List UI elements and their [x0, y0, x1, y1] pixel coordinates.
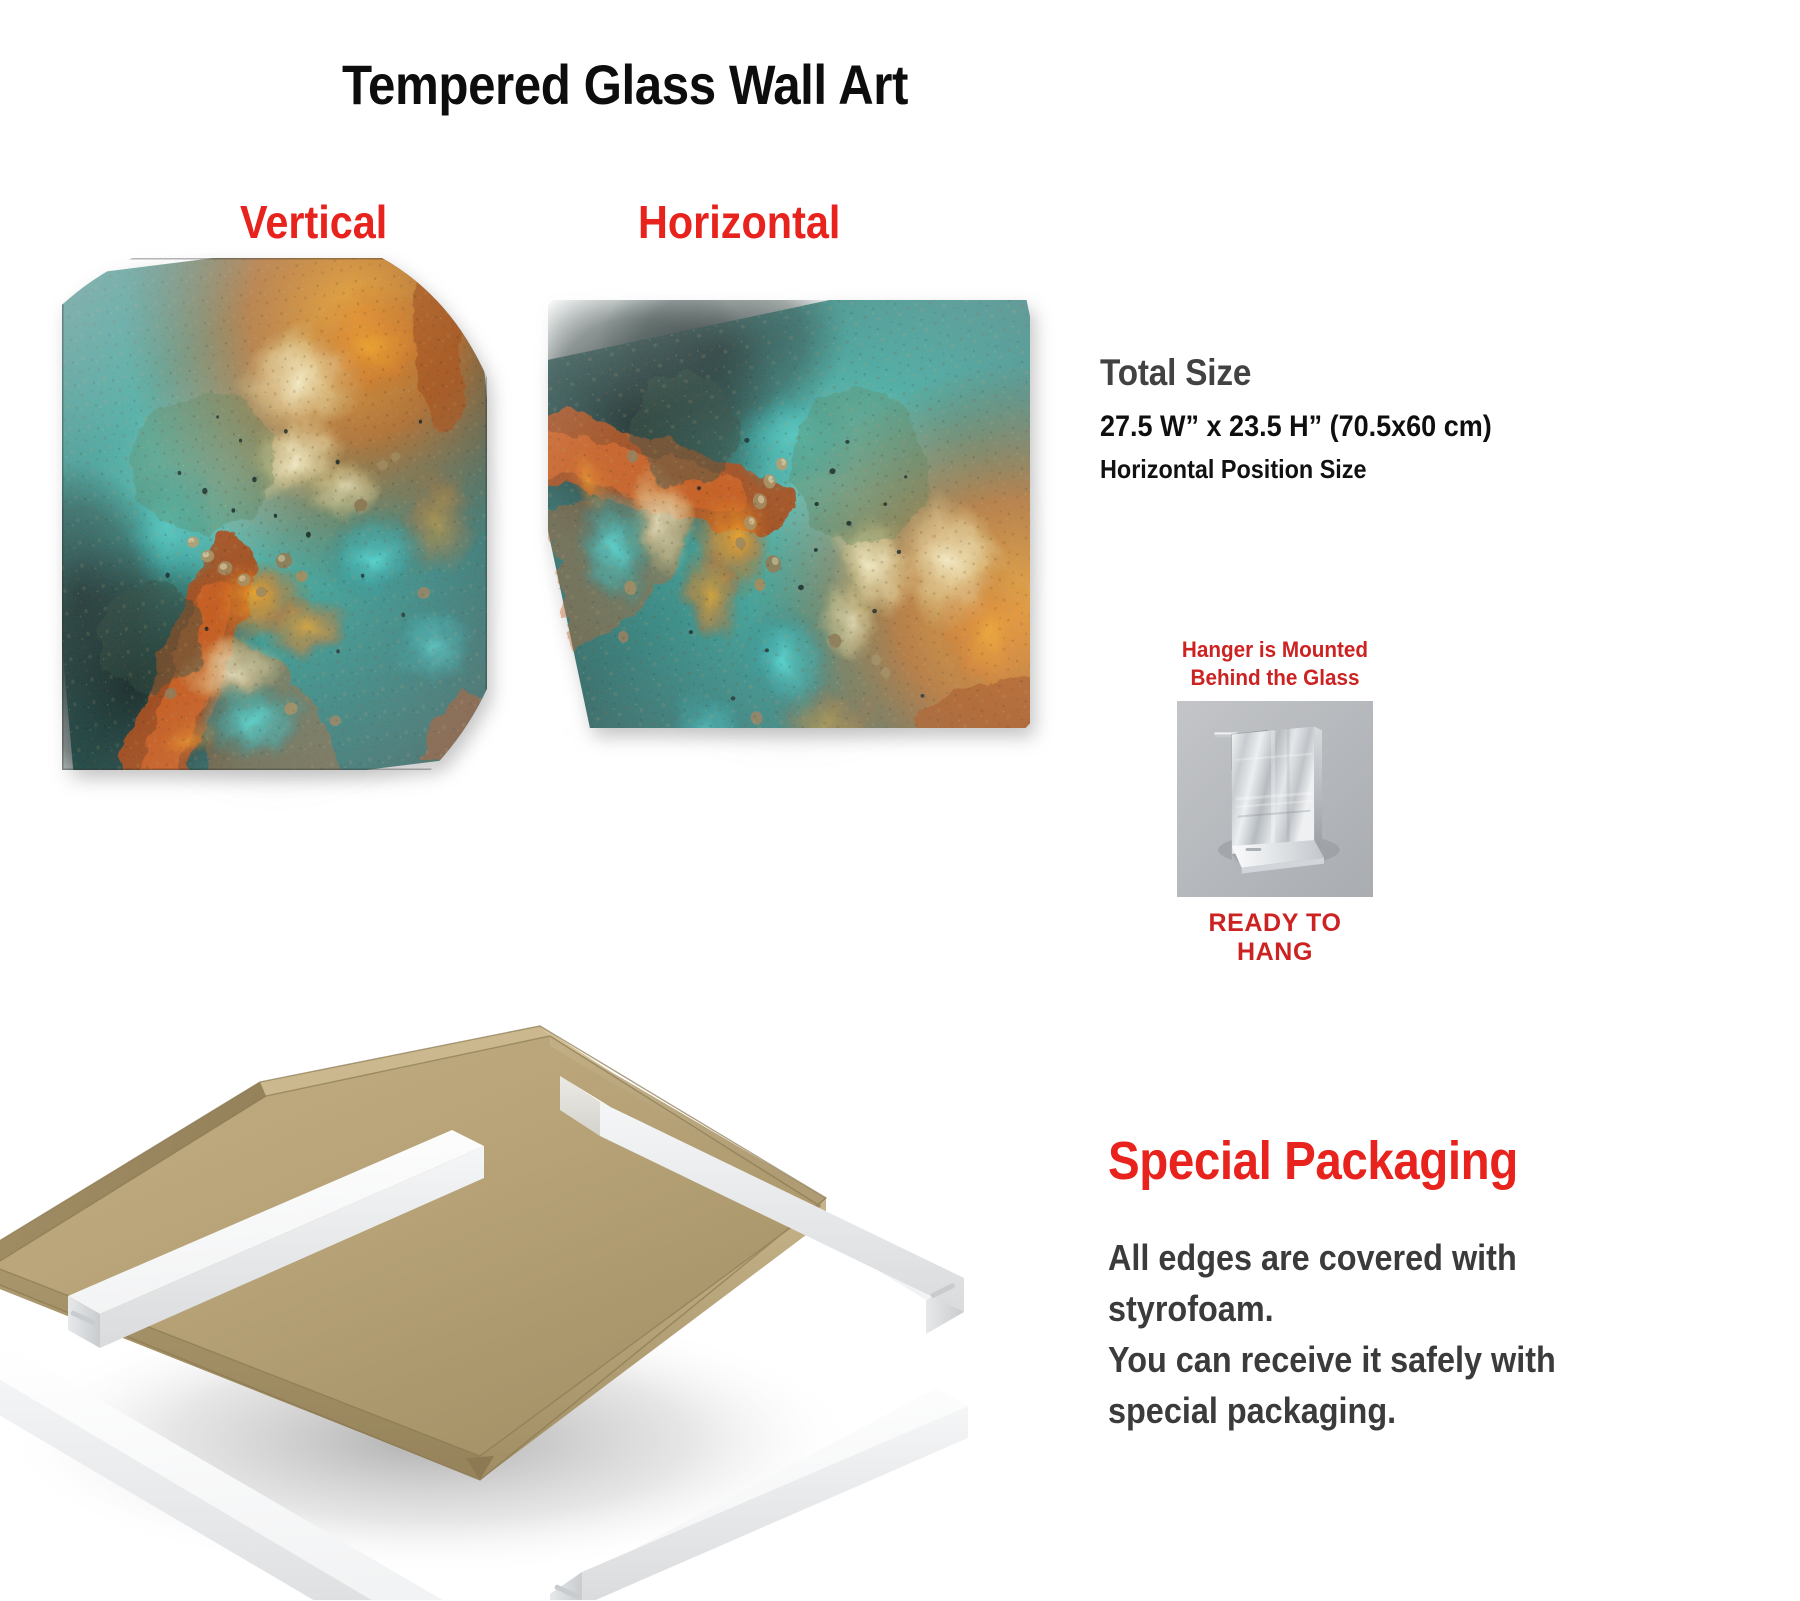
special-packaging-body: All edges are covered with styrofoam. Yo… [1108, 1232, 1702, 1436]
artwork-panel-vertical[interactable] [62, 258, 487, 770]
hanger-caption-line1: Hanger is Mounted [1181, 636, 1369, 664]
hanger-block: Hanger is Mounted Behind the Glass [1175, 636, 1375, 967]
total-size-note: Horizontal Position Size [1100, 454, 1676, 485]
orientation-label-horizontal: Horizontal [638, 195, 840, 249]
packaging-body-line-3: You can receive it safely with [1108, 1334, 1702, 1385]
metal-l-bracket-hanger-photo-icon [1177, 701, 1373, 897]
cardboard-box-with-styrofoam-edges-icon [0, 1010, 1020, 1600]
artwork-panel-horizontal[interactable] [548, 300, 1030, 728]
artwork-oval-vertical-icon [62, 258, 487, 770]
hanger-caption: Hanger is Mounted Behind the Glass [1181, 636, 1369, 691]
total-size-heading: Total Size [1100, 352, 1676, 394]
page-title: Tempered Glass Wall Art [75, 52, 1175, 117]
packaging-body-line-1: All edges are covered with [1108, 1232, 1702, 1283]
artwork-oval-horizontal-icon [548, 300, 1030, 728]
special-packaging-heading: Special Packaging [1108, 1130, 1689, 1192]
orientation-label-vertical: Vertical [240, 195, 387, 249]
packaging-body-line-4: special packaging. [1108, 1385, 1702, 1436]
hanger-caption-line2: Behind the Glass [1181, 664, 1369, 692]
packaging-body-line-2: styrofoam. [1108, 1283, 1702, 1334]
total-size-dimensions: 27.5 W” x 23.5 H” (70.5x60 cm) [1100, 410, 1676, 444]
total-size-block: Total Size 27.5 W” x 23.5 H” (70.5x60 cm… [1100, 352, 1740, 485]
ready-to-hang-label: READY TO HANG [1175, 909, 1375, 967]
special-packaging-block: Special Packaging All edges are covered … [1108, 1130, 1768, 1436]
